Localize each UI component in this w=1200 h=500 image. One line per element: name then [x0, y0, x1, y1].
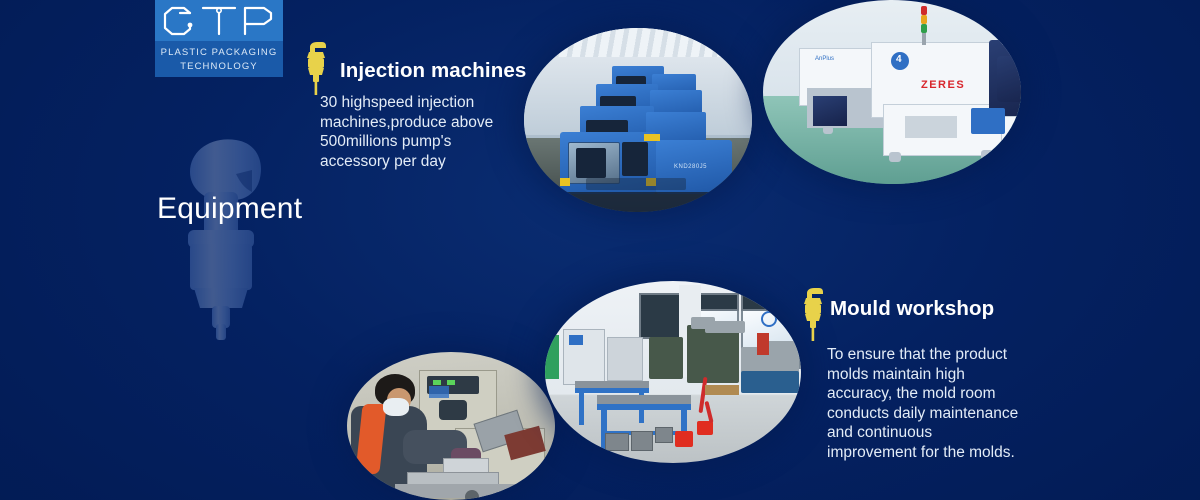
mould-line-5: and continuous — [827, 423, 1018, 443]
section-title-injection: Injection machines — [340, 59, 526, 83]
machine-number: 4 — [896, 54, 902, 65]
photo-zeres-machine: AnPlus 4 ZERES — [763, 0, 1021, 184]
machine-label: KND280J5 — [674, 164, 707, 170]
lotion-pump-icon — [160, 130, 285, 345]
ctp-logo: PLASTIC PACKAGING TECHNOLOGY — [155, 0, 283, 77]
injection-line-4: accessory per day — [320, 152, 493, 172]
photo-injection-machines: KND280J5 — [524, 28, 752, 212]
photo-mould-room — [545, 281, 801, 463]
ctp-logo-mark — [155, 0, 283, 41]
pump-pin-icon-injection — [303, 42, 329, 96]
section-body-injection: 30 highspeed injection machines,produce … — [320, 93, 493, 171]
pump-pin-icon-mould — [800, 288, 826, 342]
equipment-banner: PLASTIC PACKAGING TECHNOLOGY — [0, 0, 1200, 500]
logo-subtitle-line-1: PLASTIC PACKAGING — [161, 46, 278, 59]
section-title-mould: Mould workshop — [830, 297, 994, 321]
injection-line-2: machines,produce above — [320, 113, 493, 133]
mould-line-4: conducts daily maintenance — [827, 404, 1018, 424]
injection-line-1: 30 highspeed injection — [320, 93, 493, 113]
mould-line-3: accuracy, the mold room — [827, 384, 1018, 404]
injection-line-3: 500millions pump's — [320, 132, 493, 152]
zeres-label: ZERES — [921, 79, 965, 91]
mould-line-6: improvement for the molds. — [827, 443, 1018, 463]
pump-dispenser-icon — [303, 42, 329, 96]
mould-line-1: To ensure that the product — [827, 345, 1018, 365]
page-title: Equipment — [157, 192, 302, 226]
logo-subtitle-line-2: TECHNOLOGY — [180, 60, 258, 73]
pump-dispenser-icon — [800, 288, 826, 342]
mould-line-2: molds maintain high — [827, 365, 1018, 385]
ctp-logo-subtitle: PLASTIC PACKAGING TECHNOLOGY — [155, 41, 283, 77]
photo-cnc-operator — [347, 352, 555, 500]
section-body-mould: To ensure that the product molds maintai… — [827, 345, 1018, 462]
ctp-letters-icon — [160, 4, 278, 38]
pump-dispenser-graphic — [160, 130, 285, 345]
